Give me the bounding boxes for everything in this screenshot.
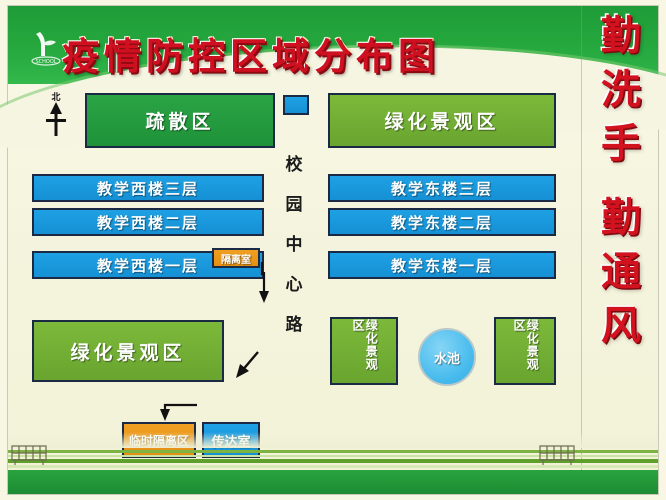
poster-root: SCHOOL 疫情防控区域分布图 勤 洗 手 勤 通 风 北 疏散区 绿化景观区… <box>0 0 666 500</box>
slogan-char: 勤 <box>601 198 641 238</box>
zone-label: 绿化景观区 <box>70 338 185 365</box>
slogan-char: 洗 <box>601 70 641 110</box>
east-building-floor-1[interactable]: 教学东楼一层 <box>328 251 556 279</box>
west-building-floor-3[interactable]: 教学西楼三层 <box>32 174 264 202</box>
zone-landscape-top-right[interactable]: 绿化景观区 <box>328 93 556 148</box>
east-building-floor-3[interactable]: 教学东楼三层 <box>328 174 556 202</box>
slogan-char: 通 <box>601 252 641 292</box>
slogan-column: 勤 洗 手 勤 通 风 <box>588 16 654 486</box>
zone-landscape-small-right[interactable]: 绿化景观区 <box>494 317 556 385</box>
road-char: 心 <box>286 270 303 295</box>
page-title: 疫情防控区域分布图 <box>62 26 440 80</box>
compass-north-label: 北 <box>38 90 74 103</box>
zone-center-marker[interactable] <box>283 95 309 115</box>
zone-label: 隔离室 <box>221 251 251 266</box>
floor-label: 教学东楼二层 <box>391 212 493 233</box>
road-char: 园 <box>286 190 303 215</box>
fence-icon <box>10 444 50 470</box>
zone-isolation-room[interactable]: 隔离室 <box>212 248 260 268</box>
slogan-char: 风 <box>601 306 641 346</box>
slogan-char: 勤 <box>601 16 641 56</box>
campus-central-road-label: 校 园 中 心 路 <box>272 150 316 420</box>
road-char: 路 <box>286 310 303 335</box>
ground-band <box>8 470 658 494</box>
zone-landscape-bottom-left[interactable]: 绿化景观区 <box>32 320 224 382</box>
zone-label: 绿化景观区 <box>512 319 538 383</box>
zone-label: 绿化景观区 <box>384 107 499 134</box>
slogan-char: 手 <box>601 124 641 164</box>
zone-label: 绿化景观区 <box>351 319 377 383</box>
road-char: 校 <box>286 150 303 175</box>
zone-label: 疏散区 <box>145 107 214 134</box>
floor-label: 教学西楼三层 <box>97 178 199 199</box>
road-char: 中 <box>286 230 303 255</box>
fence-icon <box>538 444 578 470</box>
floor-label: 教学东楼一层 <box>391 255 493 276</box>
slogan-divider <box>581 6 582 494</box>
floor-label: 教学西楼一层 <box>97 255 199 276</box>
west-building-floor-2[interactable]: 教学西楼二层 <box>32 208 264 236</box>
floor-label: 教学西楼二层 <box>97 212 199 233</box>
compass-rose: 北 <box>38 92 74 138</box>
floor-label: 教学东楼三层 <box>391 178 493 199</box>
zone-pond[interactable]: 水池 <box>418 328 476 386</box>
svg-text:SCHOOL: SCHOOL <box>35 59 56 65</box>
zone-evacuation[interactable]: 疏散区 <box>85 93 275 148</box>
east-building-floor-2[interactable]: 教学东楼二层 <box>328 208 556 236</box>
zone-label: 水池 <box>434 348 460 367</box>
zone-landscape-small-left[interactable]: 绿化景观区 <box>330 317 398 385</box>
